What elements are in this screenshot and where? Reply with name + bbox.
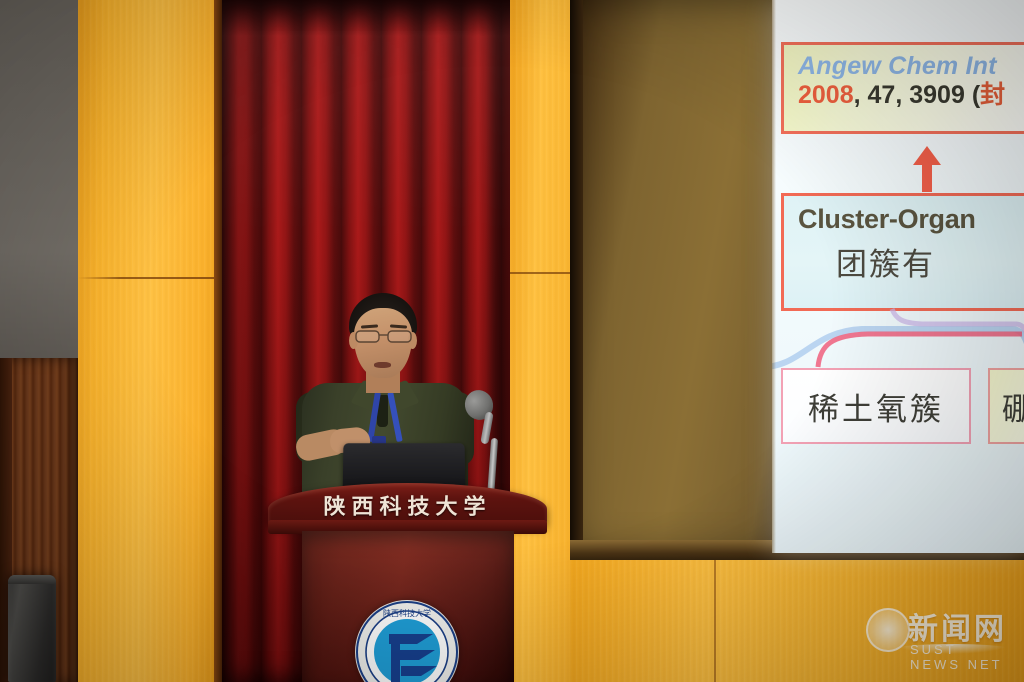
left-gray-wall xyxy=(0,0,78,360)
citation-volume: 47 xyxy=(868,81,896,109)
watermark-english-text: SUST NEWS NET xyxy=(910,642,1012,672)
brown-panel-left-edge xyxy=(570,0,583,556)
trash-bin xyxy=(8,575,56,682)
trash-bin-lid xyxy=(8,575,56,584)
glasses-icon xyxy=(355,330,412,343)
amber-wall-left xyxy=(78,0,218,682)
brown-wall-panel xyxy=(570,0,785,556)
citation-page: 3909 xyxy=(909,81,965,109)
slide-cluster-box: Cluster-Organ 团簇有 xyxy=(781,193,1024,311)
citation-paren: ( xyxy=(972,81,980,109)
citation-year: 2008 xyxy=(798,81,854,109)
citation-comma-2: , xyxy=(895,81,902,109)
slide-term-box-rare-earth: 稀土氧簇 xyxy=(781,368,971,444)
svg-text:陕西科技大学: 陕西科技大学 xyxy=(383,608,431,618)
news-watermark: 新闻网 SUST NEWS NET xyxy=(866,604,1012,666)
slide-term-box-boron: 硼 xyxy=(988,368,1024,444)
term-label: 硼 xyxy=(1002,384,1024,429)
screenshot-scene: Angew Chem Int 2008, 47, 3909 (封 Cluster… xyxy=(0,0,1024,682)
wall-panel-seam xyxy=(78,277,218,279)
podium-banner-text: 陕西科技大学 xyxy=(268,490,547,520)
projection-screen: Angew Chem Int 2008, 47, 3909 (封 Cluster… xyxy=(772,0,1024,553)
citation-chinese-fragment: 封 xyxy=(980,81,1005,109)
amber-wall-mid xyxy=(510,0,572,682)
wood-grain-texture xyxy=(510,0,572,682)
slide-connector-lines xyxy=(772,305,1024,373)
citation-reference: 2008, 47, 3909 (封 xyxy=(798,81,1024,110)
citation-journal-name: Angew Chem Int xyxy=(798,53,1024,79)
wall-panel-seam xyxy=(510,272,572,274)
cluster-english-label: Cluster-Organ xyxy=(784,196,1024,235)
cluster-chinese-label: 团簇有 xyxy=(784,235,1024,284)
up-arrow-icon xyxy=(912,146,942,192)
citation-comma-1: , xyxy=(854,81,861,109)
slide-citation-box: Angew Chem Int 2008, 47, 3909 (封 xyxy=(781,42,1024,134)
term-label: 稀土氧簇 xyxy=(808,384,944,429)
speaker-mouth xyxy=(374,362,391,368)
screen-left-edge-shadow xyxy=(772,0,776,553)
wood-grain-texture xyxy=(78,0,218,682)
wall-panel-vertical-seam xyxy=(714,560,716,682)
